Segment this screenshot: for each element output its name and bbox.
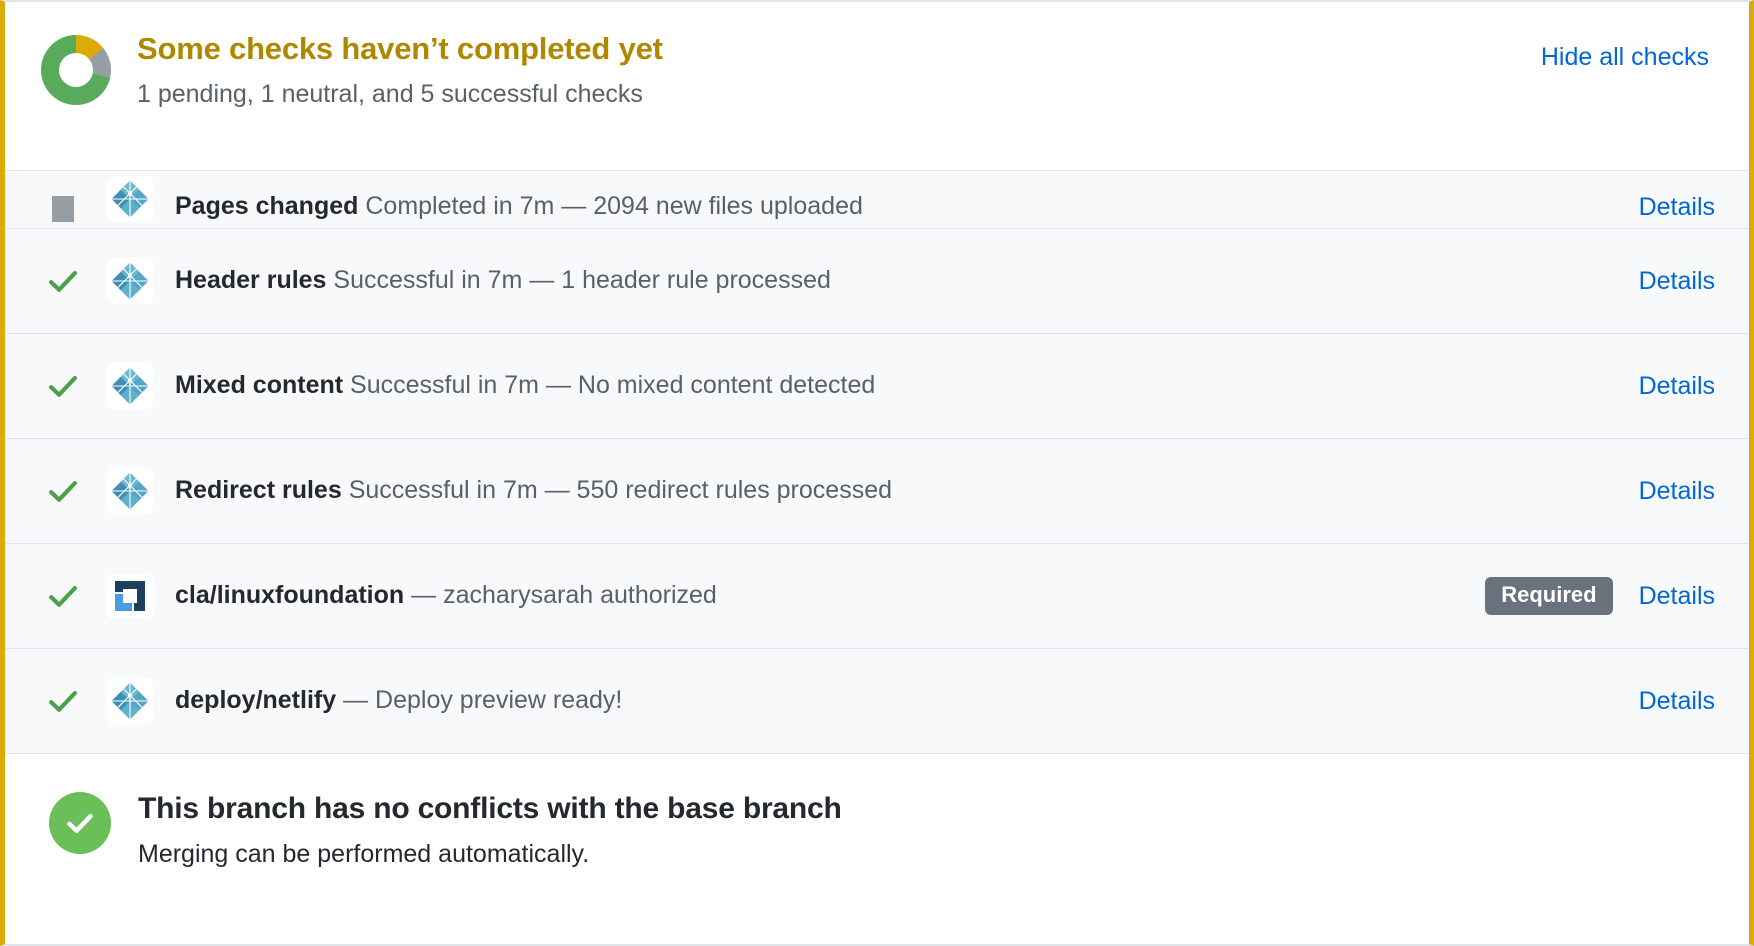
details-link[interactable]: Details [1639,372,1715,401]
check-row[interactable]: Mixed content Successful in 7m — No mixe… [5,334,1749,439]
checks-status-donut-chart [41,35,111,105]
required-badge: Required [1485,577,1612,615]
check-icon [41,369,85,403]
checks-title: Some checks haven’t completed yet [137,30,1541,69]
checks-header: Some checks haven’t completed yet 1 pend… [5,2,1749,170]
check-name: Mixed content [175,371,343,399]
checks-header-text: Some checks haven’t completed yet 1 pend… [137,30,1541,110]
checks-summary: 1 pending, 1 neutral, and 5 successful c… [137,78,1541,111]
check-description: — Deploy preview ready! [343,686,622,714]
check-description: — zacharysarah authorized [411,581,717,609]
donut-hole [59,53,93,87]
check-name: cla/linuxfoundation [175,581,404,609]
checks-list: Pages changed Completed in 7m — 2094 new… [5,170,1749,754]
check-row[interactable]: Redirect rules Successful in 7m — 550 re… [5,439,1749,544]
details-link[interactable]: Details [1639,267,1715,296]
netlify-icon [107,363,153,409]
merge-status-text: This branch has no conflicts with the ba… [138,790,842,870]
check-row[interactable]: Pages changed Completed in 7m — 2094 new… [5,171,1749,229]
check-row[interactable]: deploy/netlify — Deploy preview ready!De… [5,649,1749,754]
check-description: Successful in 7m — 550 redirect rules pr… [349,476,892,504]
check-circle-icon [49,792,111,854]
check-name: deploy/netlify [175,686,336,714]
check-icon [41,474,85,508]
check-row[interactable]: Header rules Successful in 7m — 1 header… [5,229,1749,334]
merge-conflict-status: This branch has no conflicts with the ba… [5,754,1749,900]
check-description: Completed in 7m — 2094 new files uploade… [365,192,863,220]
merge-status-subtitle: Merging can be performed automatically. [138,838,842,871]
check-text: Header rules Successful in 7m — 1 header… [175,265,1639,296]
netlify-icon [107,176,153,222]
check-text: cla/linuxfoundation — zacharysarah autho… [175,580,1485,611]
check-text: Pages changed Completed in 7m — 2094 new… [175,191,1639,222]
details-link[interactable]: Details [1639,582,1715,611]
check-name: Pages changed [175,192,358,220]
check-description: Successful in 7m — 1 header rule process… [333,266,830,294]
merge-status-title: This branch has no conflicts with the ba… [138,790,842,828]
check-name: Header rules [175,266,326,294]
check-icon [41,264,85,298]
check-description: Successful in 7m — No mixed content dete… [350,371,875,399]
check-text: Mixed content Successful in 7m — No mixe… [175,370,1639,401]
details-link[interactable]: Details [1639,477,1715,506]
check-text: deploy/netlify — Deploy preview ready! [175,685,1639,716]
hide-all-checks-link[interactable]: Hide all checks [1541,43,1715,72]
cla-linuxfoundation-icon [107,573,153,619]
check-row[interactable]: cla/linuxfoundation — zacharysarah autho… [5,544,1749,649]
check-name: Redirect rules [175,476,342,504]
check-icon [41,684,85,718]
check-icon [41,579,85,613]
netlify-icon [107,468,153,514]
details-link[interactable]: Details [1639,687,1715,716]
gray-square-icon [41,196,85,222]
merge-status-box: Some checks haven’t completed yet 1 pend… [0,0,1754,946]
netlify-icon [107,678,153,724]
netlify-icon [107,258,153,304]
check-text: Redirect rules Successful in 7m — 550 re… [175,475,1639,506]
details-link[interactable]: Details [1639,193,1715,222]
